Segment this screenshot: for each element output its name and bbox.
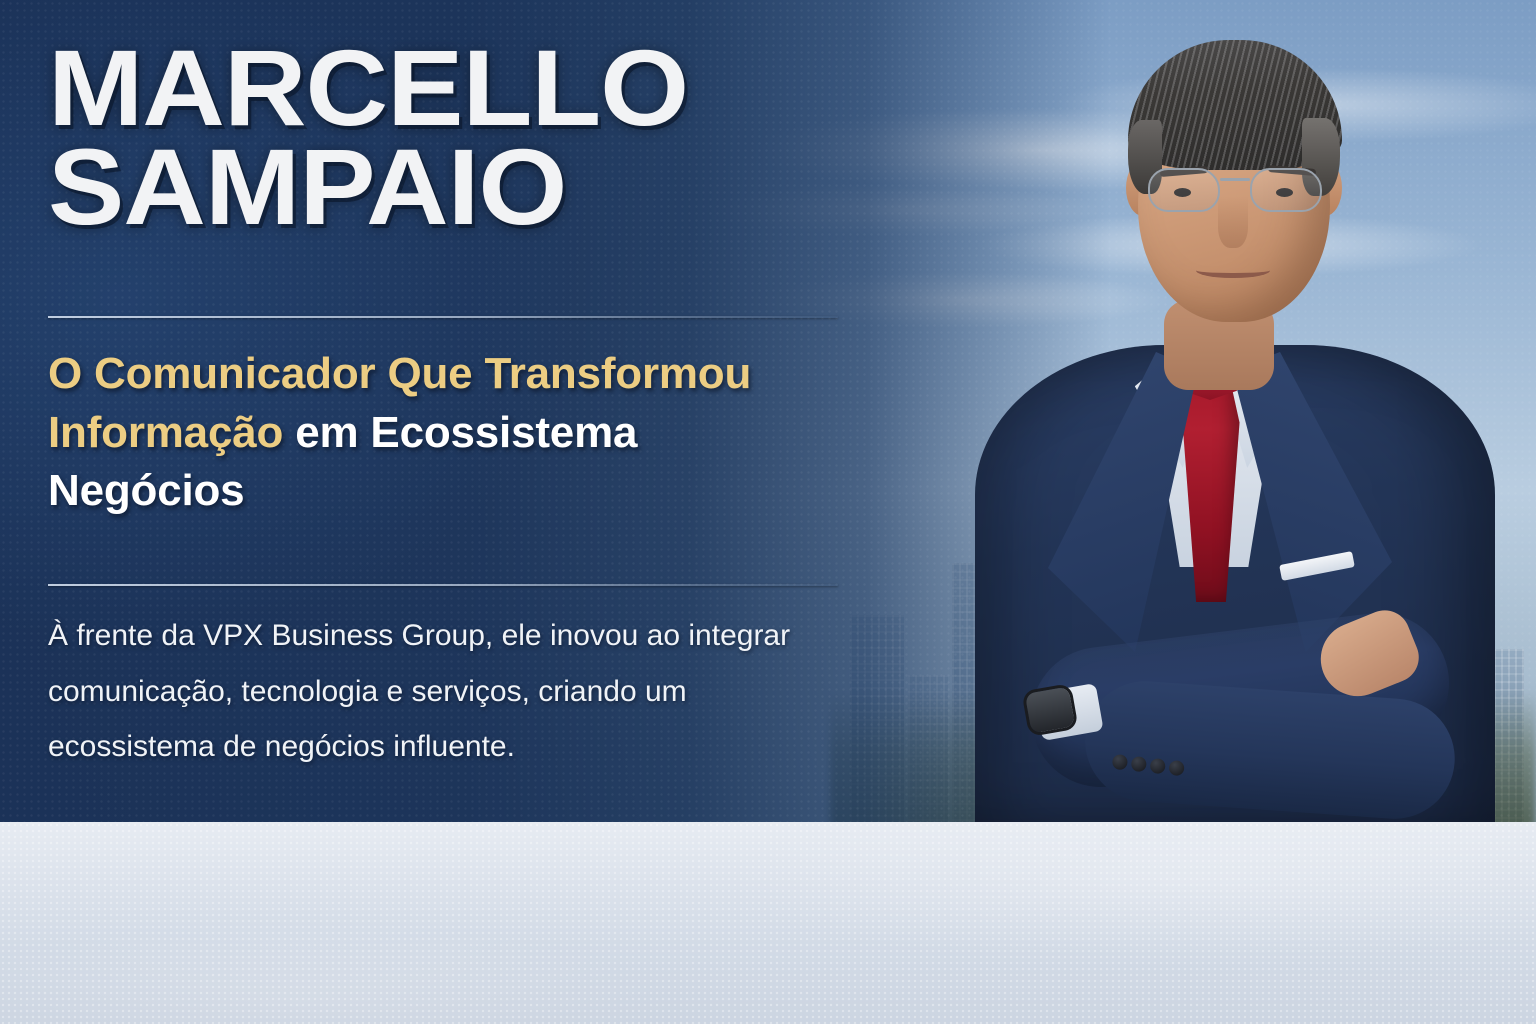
headline-segment-4: Negócios <box>48 466 244 515</box>
name-line-2: SAMPAIO <box>48 126 566 247</box>
body-paragraph: À frente da VPX Business Group, ele inov… <box>48 608 838 775</box>
divider-top <box>48 316 838 318</box>
headline-segment-1: O Comunicador Que Transformou <box>48 349 751 398</box>
headline-segment-2: Informação <box>48 408 283 457</box>
promo-banner: MARCELLO SAMPAIO O Comunicador Que Trans… <box>0 0 1536 1024</box>
person-name: MARCELLO SAMPAIO <box>48 38 811 237</box>
headline: O Comunicador Que Transformou Informação… <box>48 345 928 521</box>
wristwatch <box>1025 686 1075 733</box>
divider-bottom <box>48 584 838 586</box>
portrait-photo <box>880 0 1536 830</box>
partner-logo-bar: O Diário FOZ O Diário DOSUL GVPCOM <box>0 822 1536 1024</box>
content-column: MARCELLO SAMPAIO O Comunicador Que Trans… <box>48 0 928 822</box>
headline-segment-3: em Ecossistema <box>283 408 637 457</box>
